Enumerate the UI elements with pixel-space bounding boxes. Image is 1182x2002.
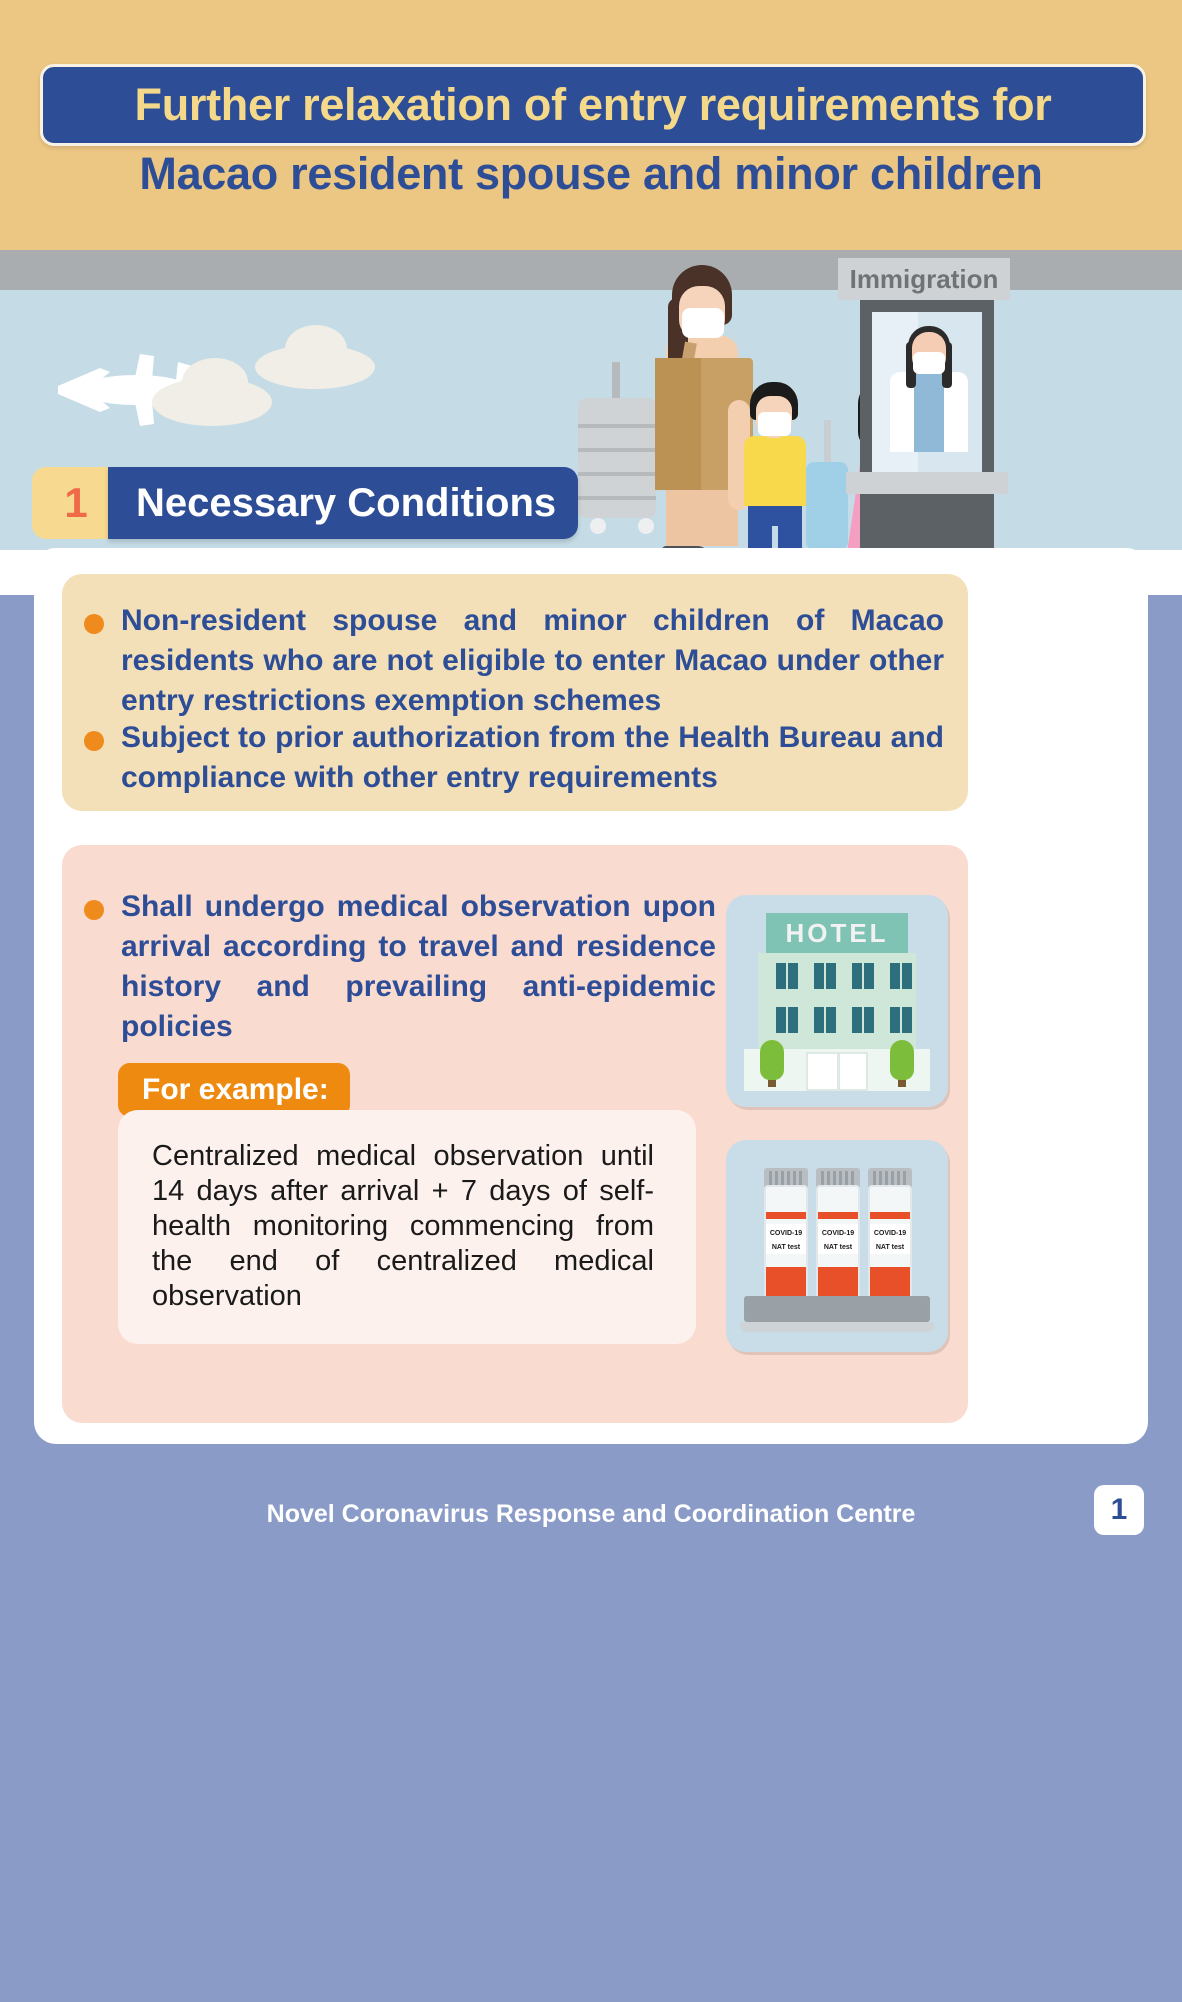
footer-organization: Novel Coronavirus Response and Coordinat… [267,1500,916,1528]
list-item: Subject to prior authorization from the … [84,718,944,798]
bullet-dot-icon [84,900,104,920]
list-item: Shall undergo medical observation upon a… [84,887,716,1047]
tube-label-line2: NAT test [818,1238,858,1252]
booth-counter [846,472,1008,494]
hotel-window [776,963,798,989]
tube-label-line1: COVID-19 [766,1224,806,1238]
boy-shirt [744,436,806,506]
page-footer: Novel Coronavirus Response and Coordinat… [0,1500,1182,1529]
bullet-text: Non-resident spouse and minor children o… [121,601,944,721]
hotel-window [890,963,912,989]
page-subtitle: Macao resident spouse and minor children [0,148,1182,200]
kid-case-handle [824,420,831,468]
suitcase-line [578,424,656,428]
for-example-label: For example: [118,1073,329,1107]
list-item: Non-resident spouse and minor children o… [84,601,944,721]
page-header: Further relaxation of entry requirements… [0,0,1182,288]
cloud-shape [182,358,248,406]
hotel-door [806,1052,868,1091]
hotel-window [776,1007,798,1033]
cloud-shape [285,325,347,373]
immigration-sign-label: Immigration [850,264,999,295]
tube-label-line2: NAT test [870,1238,910,1252]
hotel-signboard: HOTEL [766,913,908,953]
face-mask-icon [758,412,791,436]
hotel-window [852,1007,874,1033]
section-number-badge: 1 [32,467,120,539]
suitcase-wheel [638,518,654,534]
tube-label-line1: COVID-19 [818,1224,858,1238]
tree-icon [890,1040,914,1080]
tube-label-line1: COVID-19 [870,1224,910,1238]
tube-label: COVID-19 NAT test [870,1224,910,1254]
suitcase-handle [612,362,620,402]
suitcase-line [578,496,656,500]
airport-scene-illustration: Immigration [0,250,1182,595]
tube-label: COVID-19 NAT test [818,1224,858,1254]
hotel-window [852,963,874,989]
immigration-sign: Immigration [838,258,1010,300]
bullet-dot-icon [84,731,104,751]
tree-icon [760,1040,784,1080]
section-heading: Necessary Conditions [108,481,556,526]
title-pill: Further relaxation of entry requirements… [40,64,1146,146]
section-header-bar: Necessary Conditions [108,467,578,539]
suitcase-body [578,398,656,518]
hotel-window [814,963,836,989]
face-mask-icon [913,352,945,374]
hotel-label: HOTEL [766,913,908,953]
suitcase-wheel [590,518,606,534]
kid-suitcase [806,462,848,550]
hotel-window [814,1007,836,1033]
tube-rack-base [740,1322,934,1332]
hotel-window [890,1007,912,1033]
tube-band [766,1212,806,1219]
tube-band [818,1212,858,1219]
suitcase-line [578,472,656,476]
for-example-tag: For example: [118,1063,350,1117]
tote-bag-shade [655,358,701,490]
tube-rack [744,1296,930,1322]
officer-shirt [914,372,944,452]
page-title: Further relaxation of entry requirements… [135,79,1052,131]
example-text: Centralized medical observation until 14… [152,1139,654,1314]
tube-label-line2: NAT test [766,1238,806,1252]
page-number: 1 [1111,1493,1128,1527]
suitcase-line [578,448,656,452]
tube-band [870,1212,910,1219]
bullet-dot-icon [84,614,104,634]
page-number-badge: 1 [1094,1485,1144,1535]
tube-label: COVID-19 NAT test [766,1224,806,1254]
bullet-text: Subject to prior authorization from the … [121,718,944,798]
bullet-text: Shall undergo medical observation upon a… [121,887,716,1047]
section-number: 1 [64,479,87,527]
face-mask-icon [682,308,724,338]
